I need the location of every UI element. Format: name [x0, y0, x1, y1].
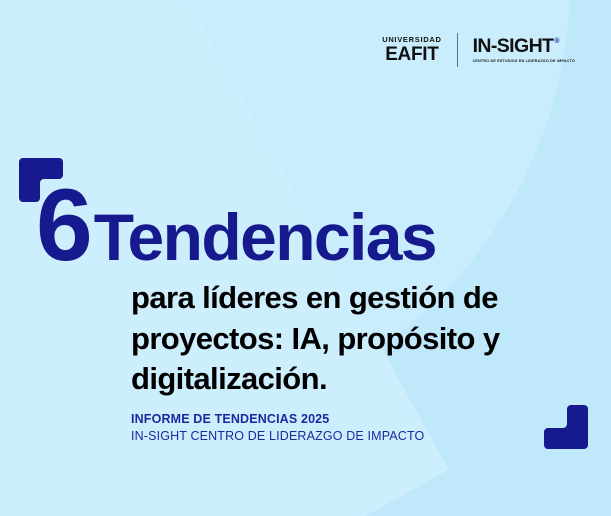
insight-logo: IN-SIGHT ® CENTRO DE ESTUDIOS EN LIDERAZ…	[473, 36, 575, 63]
bracket-decoration-bottom-right	[544, 405, 588, 449]
insight-logo-tagline-text: CENTRO DE ESTUDIOS EN LIDERAZGO DE IMPAC…	[473, 60, 575, 64]
footer-organization: IN-SIGHT CENTRO DE LIDERAZGO DE IMPACTO	[131, 428, 424, 445]
eafit-logo-name-text: EAFIT	[385, 45, 438, 64]
headline-word: Tendencias	[94, 212, 436, 263]
headline: 6 Tendencias	[36, 186, 436, 266]
report-cover-poster: UNIVERSIDAD EAFIT IN-SIGHT ® CENTRO DE E…	[0, 0, 611, 516]
eafit-logo-universidad-text: UNIVERSIDAD	[382, 36, 441, 44]
subheading: para líderes en gestión de proyectos: IA…	[131, 278, 583, 400]
registered-trademark-icon: ®	[554, 38, 559, 45]
subheading-line-1: para líderes en gestión de	[131, 278, 583, 319]
footer-report-title: INFORME DE TENDENCIAS 2025	[131, 411, 424, 428]
insight-logo-name-row: IN-SIGHT ®	[473, 37, 575, 57]
brand-divider	[457, 33, 458, 67]
insight-logo-name-text: IN-SIGHT	[473, 37, 554, 57]
subheading-line-3: digitalización.	[131, 359, 583, 400]
headline-numeral: 6	[36, 186, 90, 266]
subheading-line-2: proyectos: IA, propósito y	[131, 319, 583, 360]
eafit-logo: UNIVERSIDAD EAFIT	[382, 36, 441, 64]
footer-block: INFORME DE TENDENCIAS 2025 IN-SIGHT CENT…	[131, 411, 424, 446]
brand-lockup: UNIVERSIDAD EAFIT IN-SIGHT ® CENTRO DE E…	[382, 33, 575, 67]
